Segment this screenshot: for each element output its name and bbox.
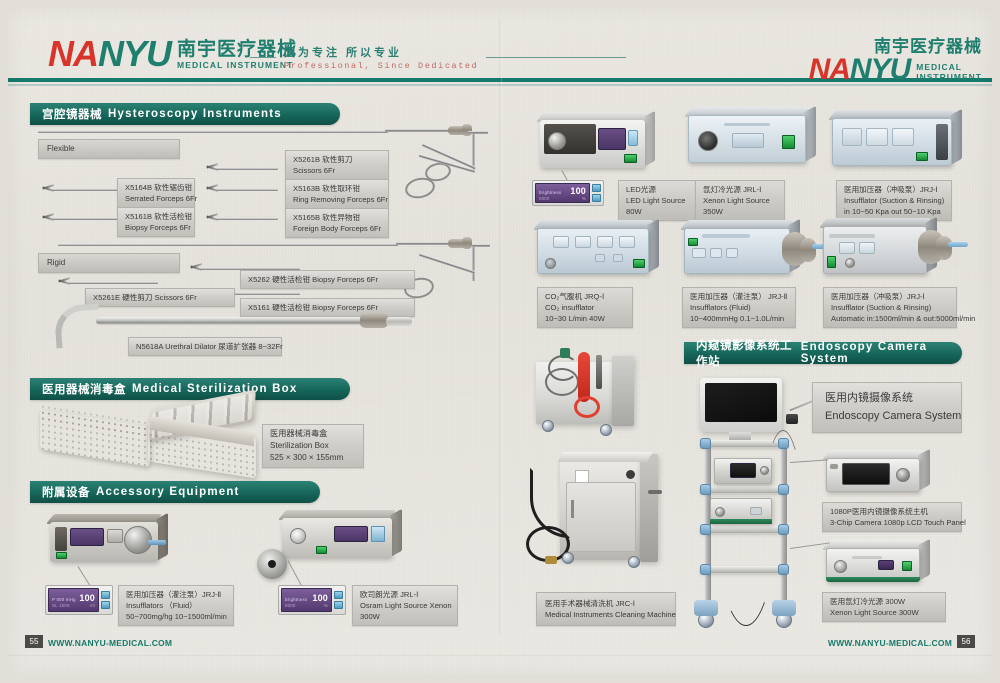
section-header-hysteroscopy-cn: 宫腔镜器械 (42, 106, 102, 122)
lcd-light-label: brightness (285, 597, 307, 602)
lcd-insufflator-value: 100 (79, 593, 95, 603)
item-label-serrated-forceps: X5164B 软性锯齿钳 Serrated Forceps 6Fr (117, 178, 195, 208)
device-camera-host-1080p (826, 458, 920, 492)
lcd-preview-light-source: brightness100 0000% (278, 585, 346, 615)
device-insufflator-fluid (50, 522, 158, 562)
lcd-preview-led: brightness100 0000% (532, 180, 604, 206)
brand-en-right-line2: INSTRUMENT (916, 72, 982, 83)
roller-pump-head-1b (800, 238, 816, 262)
section-header-accessory-cn: 附属设备 (42, 484, 90, 500)
item-label-rigid-biopsy-x5161: X5161 硬性活检钳 Biopsy Forceps 6Fr (240, 298, 415, 317)
device-led-light-source (540, 120, 645, 168)
group-label-rigid: Rigid (38, 253, 180, 273)
footer-rule (0, 655, 1000, 656)
section-header-accessory: 附属设备 Accessory Equipment (30, 481, 320, 503)
item-label-insufflator-suction-1: 医用加压器（冲吸泵）JRJ-Ⅰ Insufflator (Suction & R… (836, 180, 952, 221)
brand-wordmark-right: NANYU (809, 55, 911, 85)
light-guide-adapter-illustration (257, 549, 287, 579)
item-label-insufflator-fluid: 医用加压器（灌注泵）JRJ-Ⅱ Insufflators （Fluid） 50~… (118, 585, 234, 626)
item-label-ring-removing-forceps: X5163B 软性取环钳 Ring Removing Forceps 6Fr (285, 179, 389, 209)
page-number-right: 56 (957, 635, 975, 648)
item-label-insufflator-fluid-jrj2: 医用加压器（灌注泵） JRJ-Ⅱ Insufflators (Fluid) 10… (682, 287, 796, 328)
device-osram-light-source (282, 518, 392, 558)
lcd-preview-insufflator: P 000 mHg100 SL 1500ml (45, 585, 113, 615)
lcd-led-value: 100 (570, 186, 586, 196)
section-header-sterilization-en: Medical Sterilization Box (132, 383, 297, 395)
device-insufflator-suction-rinsing-2 (823, 226, 927, 274)
item-label-sterilization-box: 医用器械消毒盒 Sterilization Box 525 × 300 × 15… (262, 424, 364, 468)
section-header-camera-cn: 内窥镜影像系统工作站 (696, 337, 795, 369)
pump-tube-2 (948, 242, 968, 247)
brand-en-right-line1: MEDICAL (916, 62, 982, 73)
slogan-cn: 因为专注 所以专业 (284, 44, 478, 60)
lcd-insufflator-label: P 000 mHg (52, 597, 76, 602)
lcd-led-label: brightness (539, 190, 561, 195)
device-insufflator-suction-rinsing-1 (832, 118, 952, 166)
section-header-hysteroscopy: 宫腔镜器械 Hysteroscopy Instruments (30, 103, 340, 125)
slogan-rule-right (486, 57, 626, 58)
device-co2-insufflator (537, 228, 649, 274)
slogan-rule-left (250, 57, 276, 58)
footer-url-left[interactable]: WWW.NANYU-MEDICAL.COM (48, 638, 172, 648)
item-label-cleaning-machine: 医用手术器械清洗机 JRC-Ⅰ Medical Instruments Clea… (536, 592, 676, 626)
item-label-led-light-source: LED光源 LED Light Source 80W (618, 180, 700, 221)
lcd-light-value: 100 (312, 593, 328, 603)
item-label-co2-insufflator: CO₂气腹机 JRQ-Ⅰ CO₂ insufflator 10~30 L/min… (537, 287, 633, 328)
slogan-en: Professional, Since Dedicated (284, 61, 478, 71)
page-spine (499, 20, 502, 635)
item-label-camera-system-main: 医用内镜摄像系统 Endoscopy Camera System (812, 382, 962, 433)
section-header-camera-system: 内窥镜影像系统工作站 Endoscopy Camera System (684, 342, 962, 364)
device-xenon-300w (826, 548, 920, 582)
item-label-xenon-light-source: 氙灯冷光源 JRL-Ⅰ Xenon Light Source 350W (695, 180, 785, 221)
group-label-flexible: Flexible (38, 139, 180, 159)
item-label-scissors-flex: X5261B 软性剪刀 Scissors 6Fr (285, 150, 389, 180)
item-label-rigid-scissors: X5261E 硬性剪刀 Scissors 6Fr (85, 288, 235, 307)
brand-logo-right: 南宇医疗器械 NANYU MEDICAL INSTRUMENT (809, 32, 982, 85)
item-label-foreign-body-forceps: X5165B 软性异物钳 Foreign Body Forceps 6Fr (285, 208, 389, 238)
section-header-sterilization-cn: 医用器械消毒盒 (42, 381, 126, 397)
device-xenon-light-source (688, 115, 806, 163)
section-header-sterilization: 医用器械消毒盒 Medical Sterilization Box (30, 378, 350, 400)
section-header-accessory-en: Accessory Equipment (96, 486, 240, 498)
item-label-biopsy-forceps-flex: X5161B 软性活检钳 Biopsy Forceps 6Fr (117, 207, 195, 237)
item-label-camera-host-1080p: 1080P医用内镜摄像系统主机 3-Chip Camera 1080p LCD … (822, 502, 962, 532)
page-number-left: 55 (25, 635, 43, 648)
item-label-urethral-dilator: N5618A Urethral Dilator 尿道扩张器 8~32Fr (128, 337, 282, 356)
item-label-xenon-300w: 医用氙灯冷光源 300W Xenon Light Source 300W (822, 592, 946, 622)
item-label-rigid-biopsy-x5262: X5262 硬性活检钳 Biopsy Forceps 6Fr (240, 270, 415, 289)
item-label-osram-light-source: 欧司朗光源 JRL-Ⅰ Osram Light Source Xenon 300… (352, 585, 458, 626)
slogan-block: 因为专注 所以专业 Professional, Since Dedicated (250, 44, 626, 71)
section-header-hysteroscopy-en: Hysteroscopy Instruments (108, 108, 282, 120)
brand-wordmark-left: NANYU (48, 36, 171, 72)
roller-pump-head-2b (936, 236, 952, 260)
section-header-camera-en: Endoscopy Camera System (801, 341, 948, 365)
item-label-insufflator-suction-2: 医用加压器（冲吸泵）JRJ-Ⅰ Insufflator (Suction & R… (823, 287, 957, 328)
footer-url-right[interactable]: WWW.NANYU-MEDICAL.COM (828, 638, 952, 648)
catalog-page: NANYU 南宇医疗器械 MEDICAL INSTRUMENT 因为专注 所以专… (0, 0, 1000, 683)
device-insufflator-fluid-jrj2 (684, 228, 790, 274)
